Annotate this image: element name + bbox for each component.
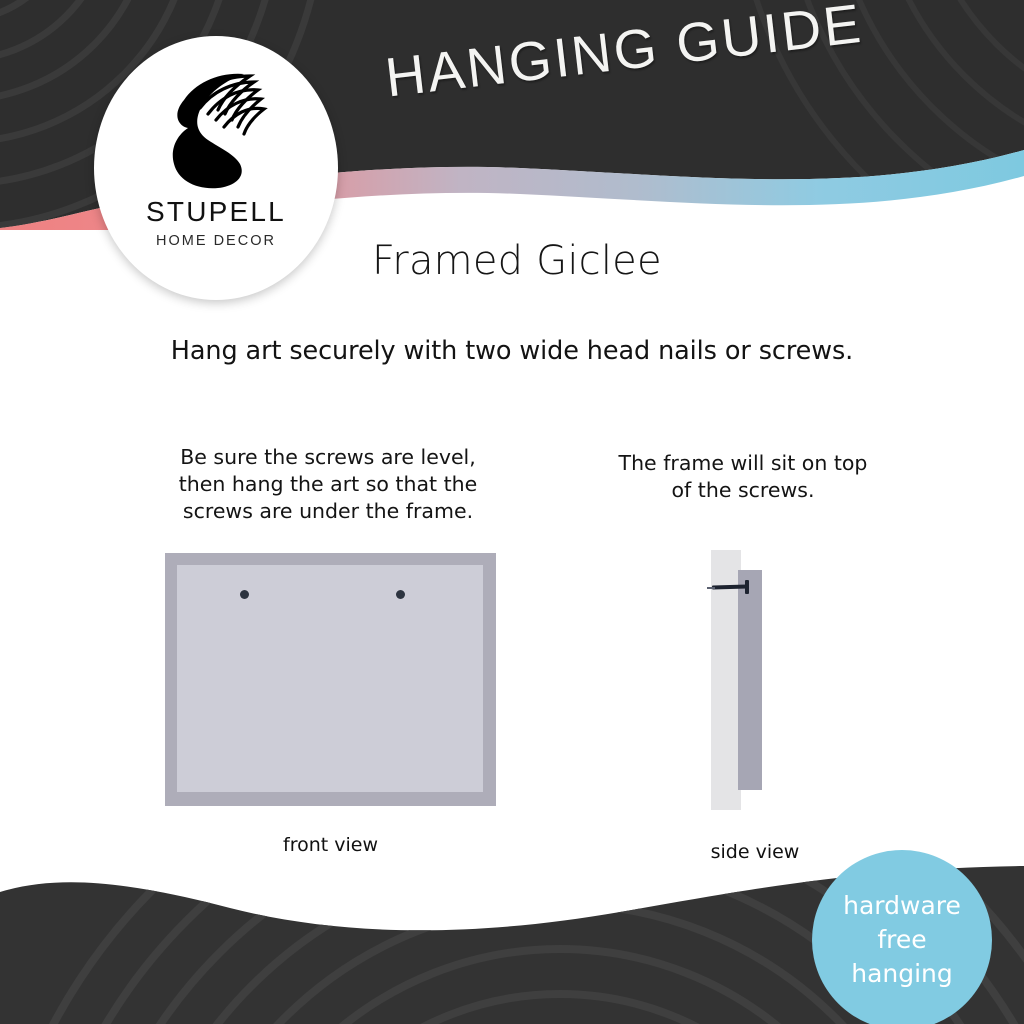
- badge-line: free: [877, 923, 926, 957]
- nail-head-icon: [745, 580, 749, 594]
- front-view-caption: Be sure the screws are level, then hang …: [160, 444, 496, 525]
- badge-line: hardware: [843, 889, 961, 923]
- logo-brand-name: STUPELL: [146, 196, 286, 228]
- swirl-s-logo-icon: [148, 64, 284, 190]
- side-view-caption: The frame will sit on top of the screws.: [596, 450, 890, 504]
- front-view-frame-interior: [177, 565, 483, 792]
- brand-logo-badge: STUPELL HOME DECOR: [94, 36, 338, 300]
- side-view-frame-diagram: [700, 545, 810, 820]
- front-view-label: front view: [165, 834, 496, 856]
- caption-line: then hang the art so that the: [160, 471, 496, 498]
- screw-dot-left-icon: [240, 590, 249, 599]
- front-view-frame-diagram: [165, 553, 496, 806]
- caption-line: of the screws.: [596, 477, 890, 504]
- logo-brand-subtitle: HOME DECOR: [156, 233, 276, 249]
- caption-line: Be sure the screws are level,: [160, 444, 496, 471]
- hardware-free-hanging-badge: hardware free hanging: [812, 850, 992, 1024]
- caption-line: screws are under the frame.: [160, 498, 496, 525]
- product-name: Framed Giclee: [372, 238, 662, 284]
- badge-line: hanging: [851, 957, 953, 991]
- screw-dot-right-icon: [396, 590, 405, 599]
- caption-line: The frame will sit on top: [596, 450, 890, 477]
- side-view-frame: [738, 570, 762, 790]
- main-instruction-text: Hang art securely with two wide head nai…: [0, 336, 1024, 366]
- hanging-guide-page: STUPELL HOME DECOR HANGING GUIDE Framed …: [0, 0, 1024, 1024]
- side-view-label: side view: [680, 841, 830, 863]
- nail-tip-icon: [707, 587, 715, 589]
